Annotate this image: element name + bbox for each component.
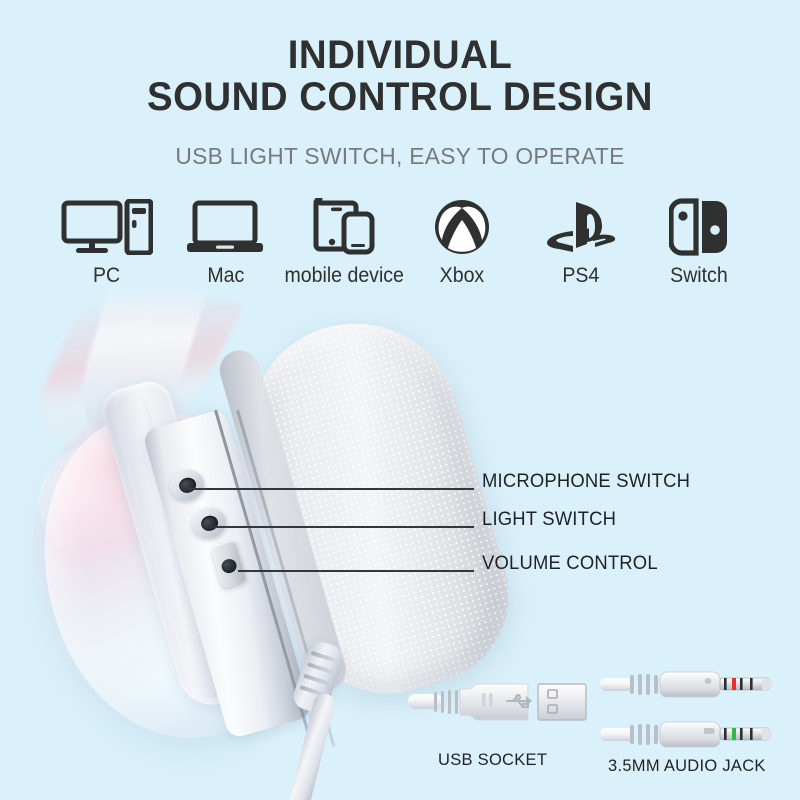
nintendo-switch-icon <box>669 196 729 258</box>
platform-label-mac: Mac <box>207 264 244 288</box>
audio-jack-label: 3.5MM AUDIO JACK <box>608 756 766 776</box>
desktop-computer-icon <box>61 196 153 258</box>
callout-line-light <box>209 526 474 528</box>
platform-item-mac: Mac <box>166 196 284 288</box>
callout-label-microphone: MICROPHONE SWITCH <box>482 471 690 493</box>
callout-label-volume: VOLUME CONTROL <box>482 553 658 575</box>
platform-label-switch: Switch <box>670 264 728 288</box>
callout-line-volume <box>238 570 474 572</box>
platform-label-ps4: PS4 <box>562 264 599 288</box>
callout-label-light: LIGHT SWITCH <box>482 509 616 531</box>
platform-item-pc: PC <box>48 196 166 288</box>
page-title: INDIVIDUAL SOUND CONTROL DESIGN <box>0 34 800 119</box>
usb-connector-graphic: USB SOCKET <box>408 672 592 739</box>
callout-line-microphone <box>186 488 474 490</box>
xbox-logo-icon <box>433 196 491 258</box>
tablet-phone-icon <box>312 196 376 258</box>
page-subtitle: USB LIGHT SWITCH, EASY TO OPERATE <box>4 143 796 170</box>
volume-slider-knob[interactable] <box>220 557 238 575</box>
platform-item-mobile: mobile device <box>285 196 403 288</box>
usb-socket-label: USB SOCKET <box>438 750 547 770</box>
platform-item-xbox: Xbox <box>403 196 521 288</box>
title-line-1: INDIVIDUAL <box>16 34 784 76</box>
platform-item-ps4: PS4 <box>522 196 640 288</box>
platform-label-xbox: Xbox <box>440 264 485 288</box>
audio-jack-graphic: 3.5MM AUDIO JACK <box>600 662 790 763</box>
title-line-2: SOUND CONTROL DESIGN <box>16 76 784 118</box>
laptop-icon <box>187 196 263 258</box>
platform-item-switch: Switch <box>640 196 758 288</box>
playstation-logo-icon <box>543 196 619 258</box>
platform-label-mobile: mobile device <box>284 264 403 288</box>
infographic-page: INDIVIDUAL SOUND CONTROL DESIGN USB LIGH… <box>0 0 800 800</box>
